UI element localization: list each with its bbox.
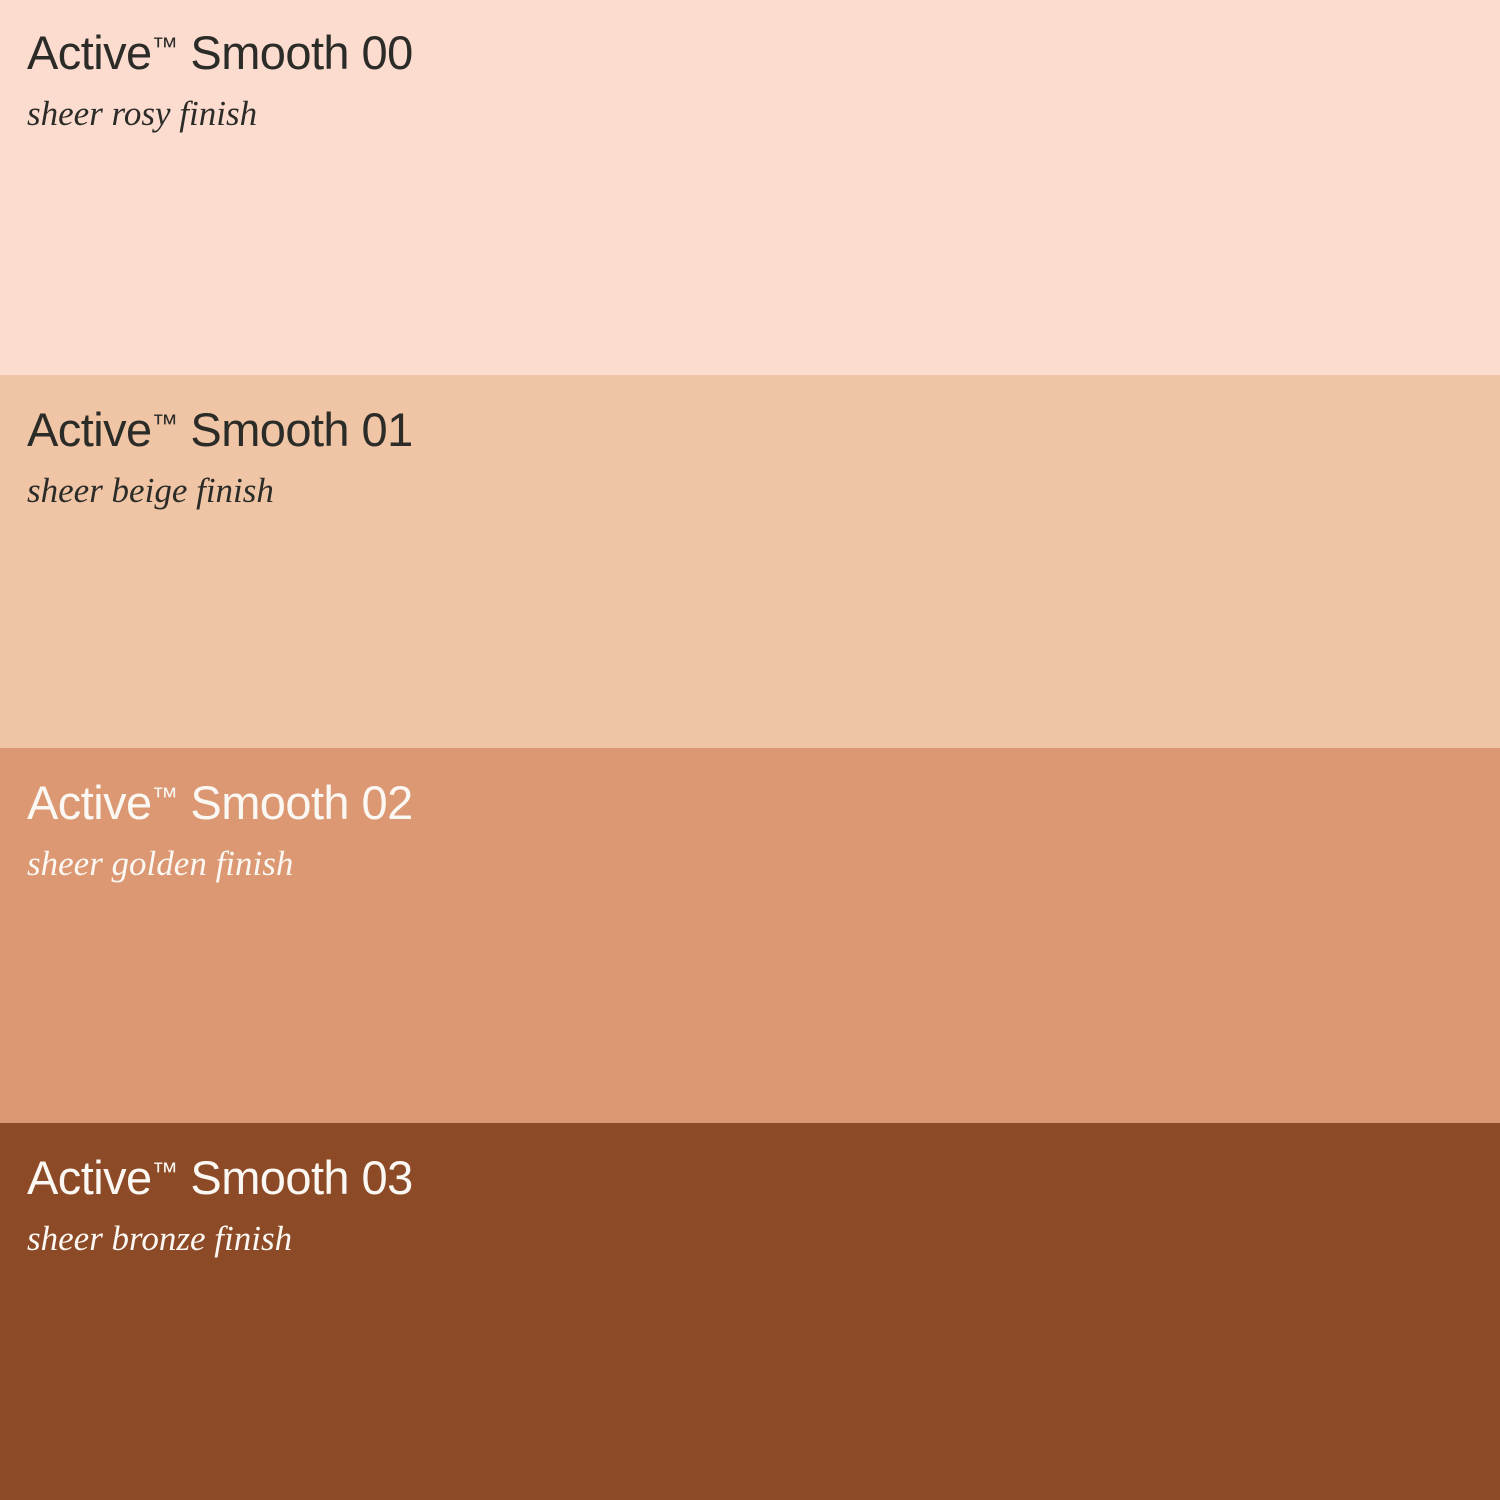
shade-name-02-prefix: Active [27, 776, 152, 829]
shade-finish-01: sheer beige finish [27, 473, 413, 508]
trademark-icon: ™ [152, 31, 178, 61]
shade-name-03-prefix: Active [27, 1151, 152, 1204]
shade-name-00: Active™ Smooth 00 [27, 29, 413, 76]
shade-name-01-prefix: Active [27, 403, 152, 456]
shade-band-02[interactable]: Active™ Smooth 02 sheer golden finish [0, 748, 1500, 1123]
shade-finish-02: sheer golden finish [27, 846, 413, 881]
shade-name-02-suffix: Smooth 02 [178, 776, 413, 829]
shade-finish-00: sheer rosy finish [27, 96, 413, 131]
shade-swatch-stack: Active™ Smooth 00 sheer rosy finish Acti… [0, 0, 1500, 1500]
shade-name-00-prefix: Active [27, 26, 152, 79]
trademark-icon: ™ [152, 1156, 178, 1186]
shade-name-01-suffix: Smooth 01 [178, 403, 413, 456]
shade-name-02: Active™ Smooth 02 [27, 779, 413, 826]
shade-name-03-suffix: Smooth 03 [178, 1151, 413, 1204]
shade-band-00[interactable]: Active™ Smooth 00 sheer rosy finish [0, 0, 1500, 375]
shade-name-01: Active™ Smooth 01 [27, 406, 413, 453]
shade-band-03-text: Active™ Smooth 03 sheer bronze finish [27, 1154, 413, 1256]
shade-band-00-text: Active™ Smooth 00 sheer rosy finish [27, 29, 413, 131]
shade-band-01[interactable]: Active™ Smooth 01 sheer beige finish [0, 375, 1500, 748]
shade-band-02-text: Active™ Smooth 02 sheer golden finish [27, 779, 413, 881]
shade-finish-03: sheer bronze finish [27, 1221, 413, 1256]
trademark-icon: ™ [152, 408, 178, 438]
shade-name-03: Active™ Smooth 03 [27, 1154, 413, 1201]
trademark-icon: ™ [152, 781, 178, 811]
shade-name-00-suffix: Smooth 00 [178, 26, 413, 79]
shade-band-01-text: Active™ Smooth 01 sheer beige finish [27, 406, 413, 508]
shade-band-03[interactable]: Active™ Smooth 03 sheer bronze finish [0, 1123, 1500, 1500]
